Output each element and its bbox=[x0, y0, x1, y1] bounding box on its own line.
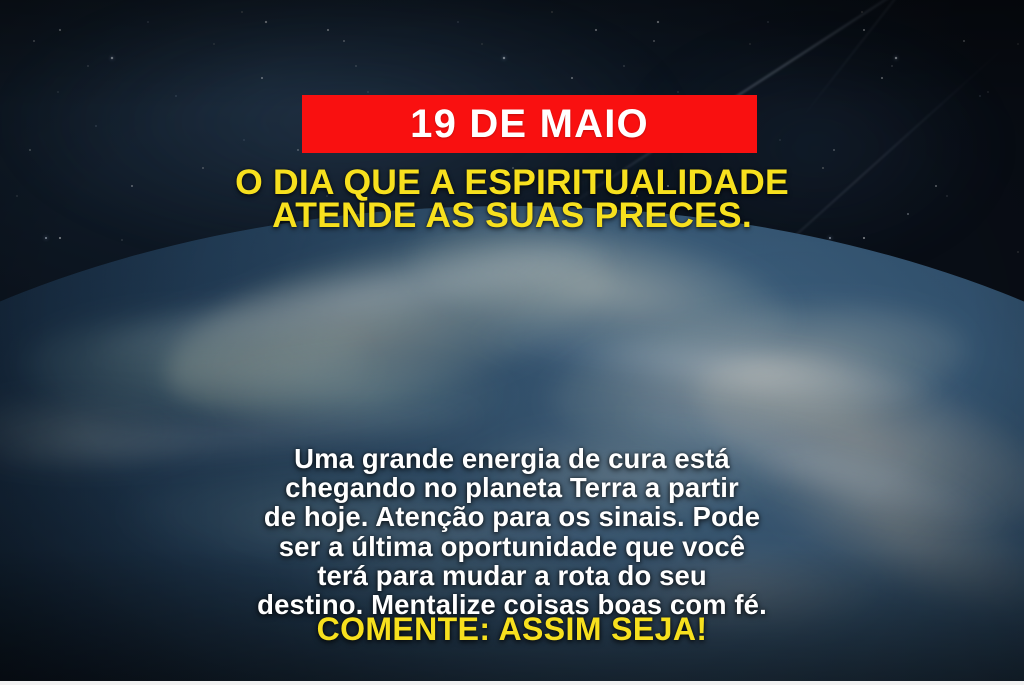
headline: O DIA QUE A ESPIRITUALIDADE ATENDE AS SU… bbox=[0, 166, 1024, 232]
body-line-5: terá para mudar a rota do seu bbox=[0, 561, 1024, 590]
date-banner-text: 19 DE MAIO bbox=[410, 104, 649, 144]
poster-image: 19 DE MAIO O DIA QUE A ESPIRITUALIDADE A… bbox=[0, 0, 1024, 685]
poster-content: 19 DE MAIO O DIA QUE A ESPIRITUALIDADE A… bbox=[0, 0, 1024, 685]
body-line-3: de hoje. Atenção para os sinais. Pode bbox=[0, 502, 1024, 531]
headline-line-2: ATENDE AS SUAS PRECES. bbox=[0, 199, 1024, 232]
call-to-action-text: COMENTE: ASSIM SEJA! bbox=[0, 613, 1024, 645]
body-line-4: ser a última oportunidade que você bbox=[0, 532, 1024, 561]
date-banner: 19 DE MAIO bbox=[302, 95, 757, 153]
body-line-1: Uma grande energia de cura está bbox=[0, 444, 1024, 473]
body-line-2: chegando no planeta Terra a partir bbox=[0, 473, 1024, 502]
body-copy: Uma grande energia de cura está chegando… bbox=[0, 444, 1024, 619]
bottom-strip bbox=[0, 681, 1024, 685]
